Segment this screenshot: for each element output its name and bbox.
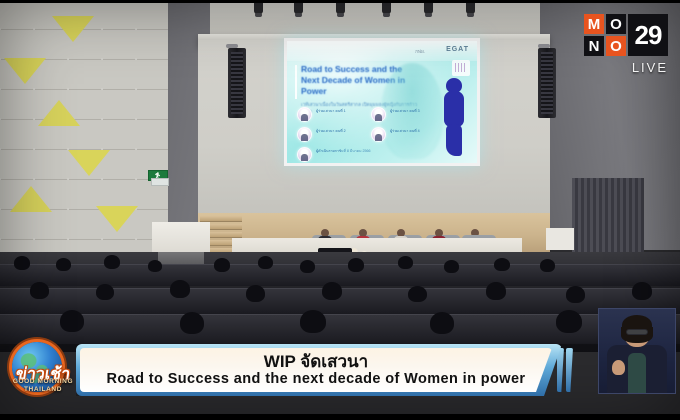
pa-speaker-right xyxy=(538,48,556,118)
lower-third-banner: WIP จัดเสวนา Road to Success and the nex… xyxy=(76,344,562,396)
audience-head xyxy=(486,282,506,300)
audience-area xyxy=(0,252,680,352)
speaker-name: ผู้ร่วมเสวนา คนที่ 3 xyxy=(390,109,442,114)
audience-head xyxy=(60,310,84,332)
slide-sponsor-thai: กฟผ. xyxy=(415,48,425,55)
wall-counter xyxy=(546,228,574,250)
logo-letter-o-top: O xyxy=(606,14,626,34)
audience-head xyxy=(30,282,49,299)
interpreter-signing-hand xyxy=(612,360,625,375)
slide-speaker-entry: ผู้ร่วมเสวนา คนที่ 2 xyxy=(297,127,312,142)
audience-head xyxy=(180,312,204,334)
program-logo: ข่าวเช้า GOOD MORNING THAILAND xyxy=(2,340,84,398)
banner-headline-thai: WIP จัดเสวนา xyxy=(264,352,368,371)
audience-head xyxy=(246,285,265,302)
audience-head xyxy=(96,284,114,300)
speaker-avatar xyxy=(371,107,386,122)
speaker-avatar xyxy=(297,107,312,122)
mono-letter-grid: M O N O xyxy=(584,14,626,56)
speaker-name: ผู้ร่วมเสวนา คนที่ 4 xyxy=(390,129,442,134)
yellow-triangle-panel xyxy=(52,16,94,42)
audience-head xyxy=(148,260,162,272)
speaker-avatar xyxy=(297,147,312,162)
speaker-name: ผู้ร่วมเสวนา คนที่ 2 xyxy=(316,129,368,134)
slide-speaker-entry: ผู้ร่วมเสวนา คนที่ 4 xyxy=(371,127,386,142)
side-curtain xyxy=(572,178,644,258)
banner-subline-english: Road to Success and the next decade of W… xyxy=(107,371,526,388)
banner-content: WIP จัดเสวนา Road to Success and the nex… xyxy=(80,348,552,392)
audience-head xyxy=(430,312,454,334)
presentation-slide: กฟผ. EGAT Road to Success and the Next D… xyxy=(287,41,477,163)
slide-sponsor-logo-text: EGAT xyxy=(446,46,469,53)
live-badge: LIVE xyxy=(584,60,668,75)
broadcast-screen: กฟผ. EGAT Road to Success and the Next D… xyxy=(0,0,680,420)
logo-number-29: 29 xyxy=(628,14,668,56)
audience-head xyxy=(398,256,413,269)
channel-logo-block: M O N O 29 LIVE xyxy=(584,14,668,75)
program-name-en-line1: GOOD MORNING xyxy=(2,378,84,385)
audience-head xyxy=(348,258,364,272)
program-name-en-line2: THAILAND xyxy=(2,386,84,393)
audience-head xyxy=(444,260,459,273)
slide-woman-figure-icon xyxy=(441,78,467,158)
slide-event-badge xyxy=(452,60,470,76)
yellow-triangle-panel xyxy=(68,150,110,176)
audience-head xyxy=(632,282,652,300)
logo-letter-m: M xyxy=(584,14,604,34)
slide-footer-note: วันที่ 8 มีนาคม 2566 xyxy=(339,148,370,154)
yellow-triangle-panel xyxy=(38,100,80,126)
audience-head xyxy=(104,255,120,269)
yellow-triangle-panel xyxy=(10,186,52,212)
speaker-name: ผู้ร่วมเสวนา คนที่ 1 xyxy=(316,109,368,114)
audience-head xyxy=(56,258,71,271)
yellow-triangle-panel xyxy=(4,58,46,84)
slide-speaker-entry: ผู้ดำเนินรายการ xyxy=(297,147,312,162)
sign-language-interpreter-inset xyxy=(598,308,676,394)
acoustic-wall-left xyxy=(0,0,168,258)
audience-head xyxy=(322,282,342,300)
slide-speaker-entry: ผู้ร่วมเสวนา คนที่ 1 xyxy=(297,107,312,122)
interpreter-glasses xyxy=(626,329,648,335)
audience-head xyxy=(556,310,582,333)
mono29-logo: M O N O 29 xyxy=(584,14,668,56)
audience-head xyxy=(300,310,326,333)
audience-head xyxy=(494,258,510,271)
audience-head xyxy=(214,258,230,272)
letterbox-bottom xyxy=(0,414,680,420)
speaker-avatar xyxy=(371,127,386,142)
slide-speaker-entry: ผู้ร่วมเสวนา คนที่ 3 xyxy=(371,107,386,122)
letterbox-top xyxy=(0,0,680,3)
audience-head xyxy=(540,259,555,272)
audience-head xyxy=(300,260,315,273)
audience-head xyxy=(170,280,190,298)
audience-head xyxy=(258,256,273,269)
running-man-icon xyxy=(155,172,161,179)
yellow-triangle-panel xyxy=(96,206,138,232)
projection-screen: กฟผ. EGAT Road to Success and the Next D… xyxy=(284,38,480,166)
audience-head xyxy=(14,256,30,270)
exit-sign-icon xyxy=(148,170,168,181)
slide-accent-bar xyxy=(295,65,297,99)
interpreter-shirt xyxy=(628,353,646,393)
pa-speaker-left xyxy=(228,48,246,118)
logo-letter-n: N xyxy=(584,36,604,56)
speaker-avatar xyxy=(297,127,312,142)
seat-row xyxy=(0,264,680,286)
audience-head xyxy=(566,286,585,303)
logo-letter-o-bottom: O xyxy=(606,36,626,56)
audience-head xyxy=(408,286,427,302)
